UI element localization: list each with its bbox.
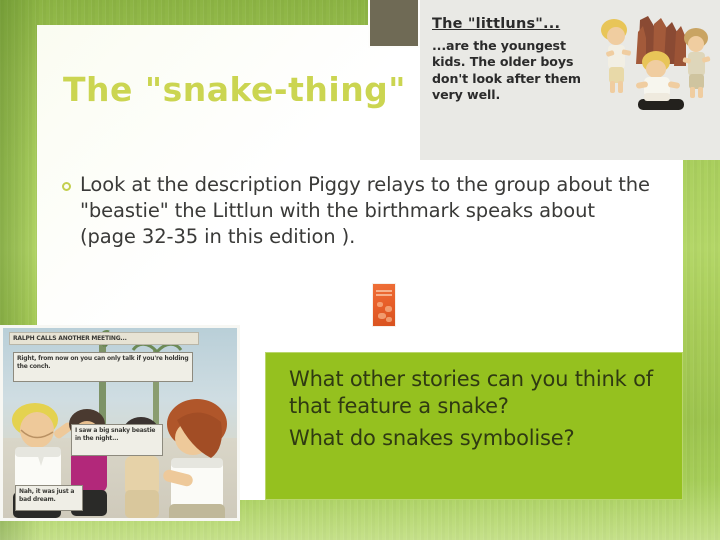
question-line-2: What do snakes symbolise?: [289, 425, 673, 452]
littluns-panel-body: ...are the youngest kids. The older boys…: [432, 38, 594, 103]
littluns-panel-heading: The "littluns"...: [432, 16, 560, 32]
comic-header-text: RALPH CALLS ANOTHER MEETING...: [10, 333, 198, 344]
presentation-slide: The "snake-thing" Look at the descriptio…: [0, 0, 720, 540]
body-bullet-text: Look at the description Piggy relays to …: [80, 172, 652, 250]
littluns-cartoon-illustration: [598, 14, 716, 134]
comic-speech-bubble-3: Nah, it was just a bad dream.: [15, 485, 83, 511]
comic-header-caption: RALPH CALLS ANOTHER MEETING...: [9, 332, 199, 345]
question-line-1: What other stories can you think of that…: [289, 366, 673, 421]
olive-placeholder-rectangle: [368, 0, 420, 48]
littluns-info-panel: The "littluns"... ...are the youngest ki…: [420, 0, 720, 160]
comic-speech-bubble-1: Right, from now on you can only talk if …: [13, 352, 193, 382]
question-callout-box: What other stories can you think of that…: [265, 352, 683, 500]
ralph-meeting-comic-strip: RALPH CALLS ANOTHER MEETING...: [0, 325, 240, 521]
lord-of-the-flies-book-cover-thumbnail: [372, 283, 396, 327]
circle-bullet-icon: [62, 182, 71, 191]
body-bullet-item: Look at the description Piggy relays to …: [62, 172, 652, 250]
comic-speech-bubble-2: I saw a big snaky beastie in the night..…: [71, 424, 163, 456]
